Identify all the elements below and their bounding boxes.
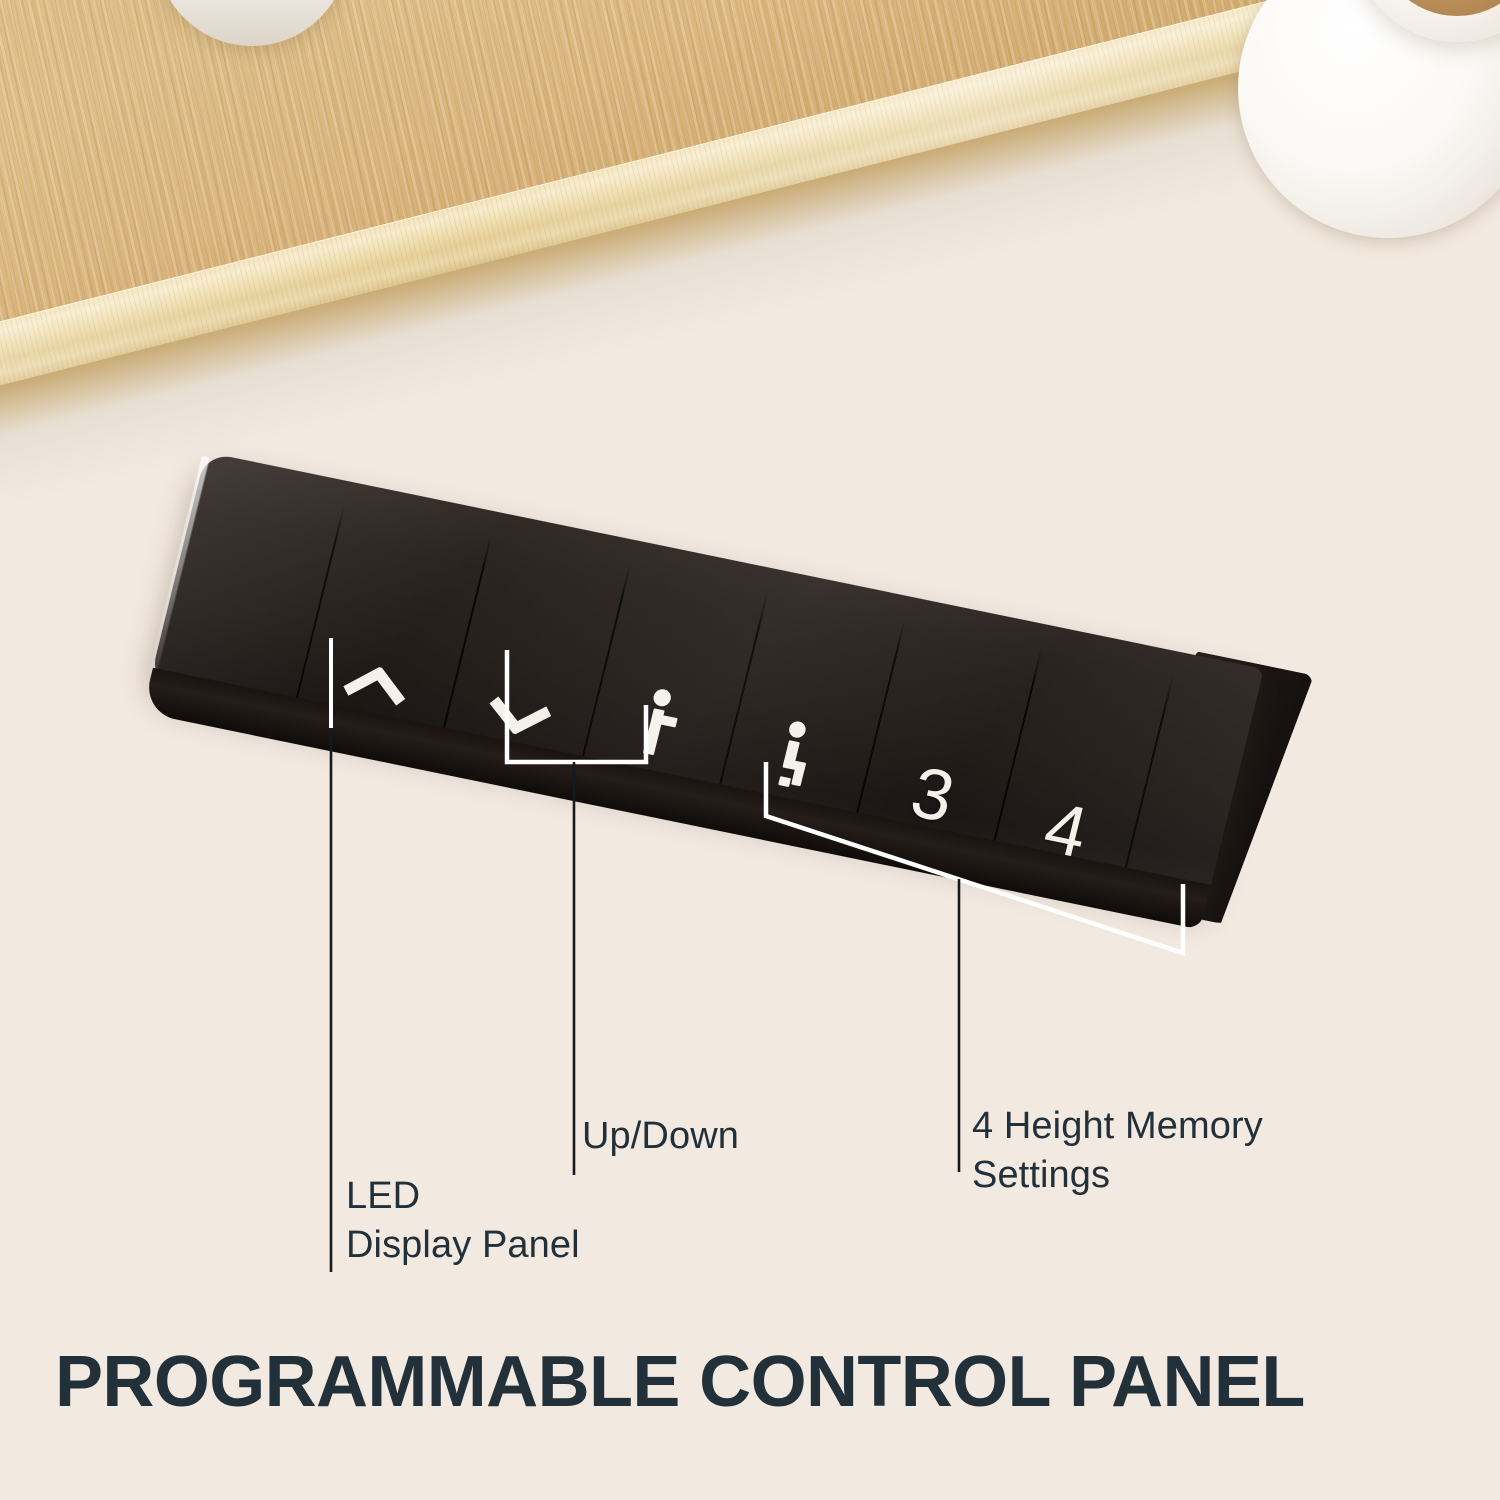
key-separator [442,535,492,730]
memory-2-key[interactable] [724,637,889,809]
memory-1-key[interactable] [587,595,754,777]
standing-person-icon [631,686,692,769]
key-separator [991,648,1043,851]
panel-edge-highlight [148,455,210,678]
key-separator [1122,675,1174,879]
down-key[interactable] [449,559,620,747]
chevron-down-icon [483,694,554,740]
key-separator [296,505,346,700]
callout-up-down: Up/Down [582,1112,739,1161]
up-key[interactable] [303,511,485,714]
key-separator [581,563,631,760]
callout-led-display-panel: LED Display Panel [346,1172,580,1271]
key-separator [718,592,769,791]
callout-height-memory: 4 Height Memory Settings [972,1102,1263,1201]
programmable-control-panel: 3 4 [134,452,1264,961]
memory-3-label: 3 [904,756,960,834]
product-feature-image: 3 4 LED Display Panel Up/Down 4 Height M… [0,0,1500,1500]
panel-face: 3 4 [149,452,1264,902]
chevron-up-icon [341,661,412,707]
key-separator [854,620,905,821]
display-key[interactable] [166,483,340,685]
headline: PROGRAMMABLE CONTROL PANEL [55,1341,1305,1423]
sitting-person-icon [767,718,828,801]
